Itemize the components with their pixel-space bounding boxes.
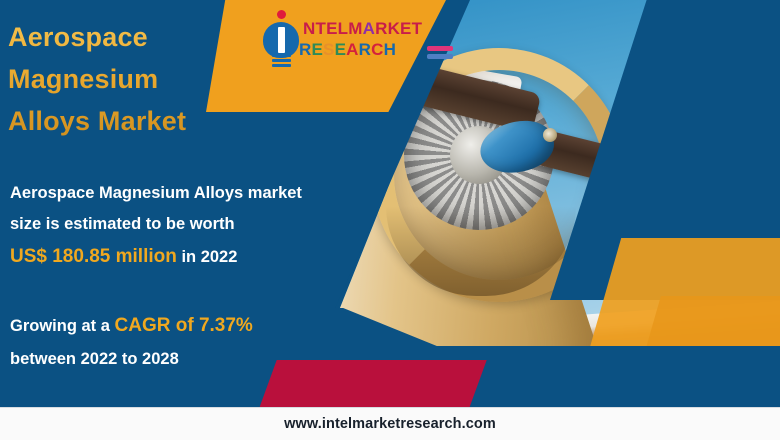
headline-line-1: Aerospace [8, 16, 298, 58]
market-size-statement: Aerospace Magnesium Alloys market size i… [10, 178, 390, 274]
logo-dashes-icon [427, 46, 453, 51]
market-value: US$ 180.85 million [10, 246, 177, 267]
market-value-year: in 2022 [177, 248, 238, 266]
footer-bar: www.intelmarketresearch.com [0, 407, 780, 440]
headline-line-2: Magnesium [8, 58, 298, 100]
marketing-banner: NTELMARKET RESEARCH Aerospace Magnesium … [0, 0, 780, 440]
website-url[interactable]: www.intelmarketresearch.com [284, 416, 496, 432]
page-title: Aerospace Magnesium Alloys Market [8, 16, 298, 142]
cagr-statement: Growing at a CAGR of 7.37% between 2022 … [10, 308, 390, 375]
body-line-3: US$ 180.85 million in 2022 [10, 239, 390, 274]
headline-line-3: Alloys Market [8, 100, 298, 142]
cagr-prefix: Growing at a [10, 317, 115, 335]
propeller-spinner-tip [543, 128, 557, 142]
cagr-value: CAGR of 7.37% [115, 315, 253, 336]
body-line-1: Aerospace Magnesium Alloys market [10, 178, 390, 209]
body-line-2: size is estimated to be worth [10, 209, 390, 240]
cagr-line-1: Growing at a CAGR of 7.37% [10, 308, 390, 344]
cagr-line-2: between 2022 to 2028 [10, 344, 390, 375]
logo-text-intelmarket: NTELMARKET [303, 19, 422, 39]
logo-text-research: RESEARCH [299, 40, 396, 60]
